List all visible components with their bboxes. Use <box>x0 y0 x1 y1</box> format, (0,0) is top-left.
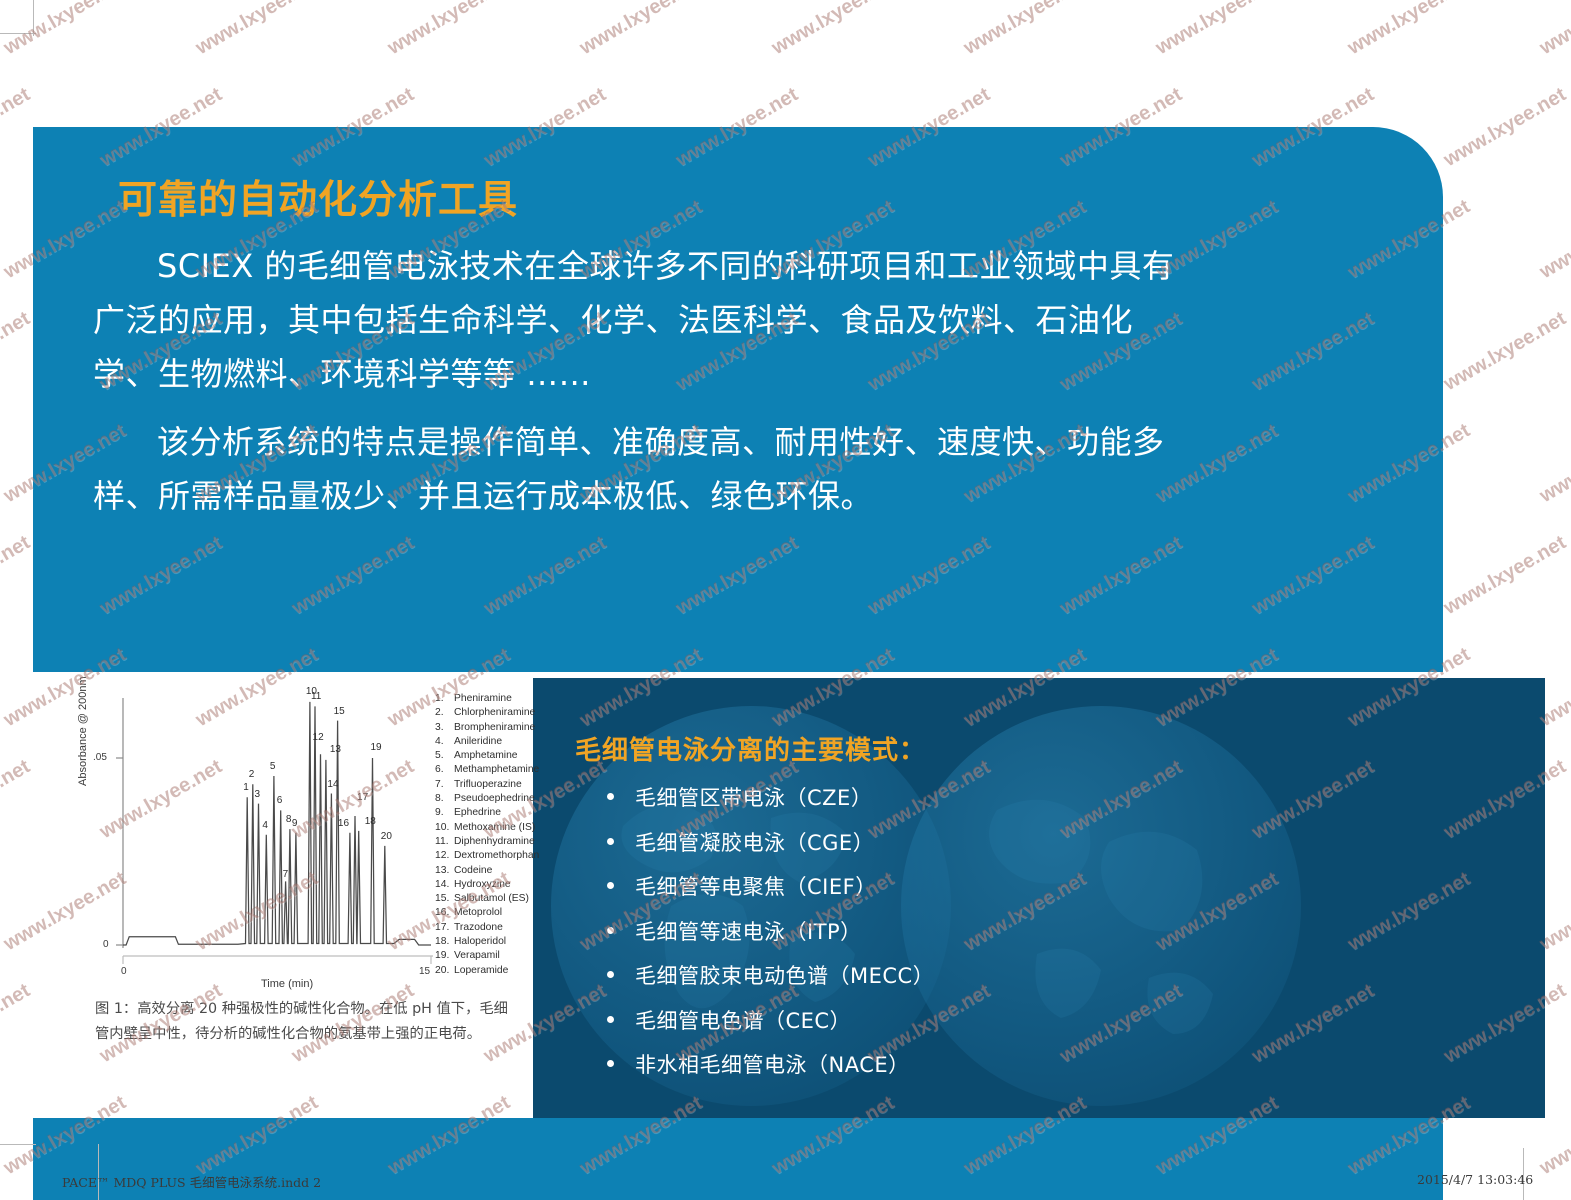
chart-peak-label: 20 <box>381 831 392 842</box>
chart-peak-label: 15 <box>334 706 345 717</box>
compound-name: Salbutamol (ES) <box>454 892 529 906</box>
modes-panel-title: 毛细管电泳分离的主要模式： <box>575 730 926 767</box>
compound-list-item: 11.Diphenhydramine <box>435 835 585 849</box>
chart-peak-label: 4 <box>262 820 268 831</box>
compound-index: 17. <box>435 921 454 935</box>
compound-list-item: 10.Methoxamine (IS) <box>435 821 585 835</box>
compound-list-item: 7.Trifluoperazine <box>435 778 585 792</box>
compound-name: Trazodone <box>454 921 503 935</box>
watermark-text: www.lxyee.net <box>1440 307 1570 395</box>
compound-index: 6. <box>435 763 454 777</box>
compound-legend-list: 1.Pheniramine2.Chlorpheniramine3.Bromphe… <box>435 692 585 978</box>
globe-graphic-right <box>901 706 1301 1106</box>
compound-name: Hydroxyzine <box>454 878 511 892</box>
hero-body: SCIEX 的毛细管电泳技术在全球许多不同的科研项目和工业领域中具有广泛的应用，… <box>93 239 1183 537</box>
compound-list-item: 19.Verapamil <box>435 949 585 963</box>
chart-peak-label: 17 <box>357 792 368 803</box>
watermark-text: www.lxyee.net <box>0 979 34 1067</box>
compound-list-item: 14.Hydroxyzine <box>435 878 585 892</box>
chart-peak-label: 1 <box>243 782 249 793</box>
compound-index: 3. <box>435 721 454 735</box>
chart-peak-label: 16 <box>338 818 349 829</box>
compound-name: Methoxamine (IS) <box>454 821 535 835</box>
compound-name: Trifluoperazine <box>454 778 522 792</box>
chart-peak-label: 5 <box>270 761 276 772</box>
compound-list-item: 1.Pheniramine <box>435 692 585 706</box>
hero-panel: 可靠的自动化分析工具 SCIEX 的毛细管电泳技术在全球许多不同的科研项目和工业… <box>33 127 1443 672</box>
mode-list-item: 非水相毛细管电泳（NACE） <box>599 1049 934 1079</box>
compound-name: Amphetamine <box>454 749 518 763</box>
figure-caption: 图 1：高效分离 20 种强极性的碱性化合物。在低 pH 值下，毛细管内壁呈中性… <box>95 997 515 1047</box>
footer-left-text: PACE™ MDQ PLUS 毛细管电泳系统.indd 2 <box>62 1172 321 1191</box>
watermark-text: www.lxyee.net <box>1536 419 1571 507</box>
compound-index: 8. <box>435 792 454 806</box>
chart-peak-label: 13 <box>330 744 341 755</box>
compound-name: Metoprolol <box>454 906 502 920</box>
compound-name: Loperamide <box>454 964 508 978</box>
watermark-text: www.lxyee.net <box>768 0 898 60</box>
compound-index: 18. <box>435 935 454 949</box>
compound-list-item: 16.Metoprolol <box>435 906 585 920</box>
compound-index: 12. <box>435 849 454 863</box>
watermark-text: www.lxyee.net <box>0 531 34 619</box>
chromatogram-chart: Absorbance @ 200nm 0 .05 0 15 Time (min)… <box>83 690 523 990</box>
mode-list-item: 毛细管区带电泳（CZE） <box>599 782 934 812</box>
compound-index: 19. <box>435 949 454 963</box>
mode-list-item: 毛细管等电聚焦（CIEF） <box>599 871 934 901</box>
compound-list-item: 6.Methamphetamine <box>435 763 585 777</box>
compound-list-item: 20.Loperamide <box>435 964 585 978</box>
chart-peak-label: 8 <box>286 814 292 825</box>
compound-index: 7. <box>435 778 454 792</box>
watermark-text: www.lxyee.net <box>1152 0 1282 60</box>
compound-list-item: 3.Brompheniramine <box>435 721 585 735</box>
compound-name: Ephedrine <box>454 806 501 820</box>
watermark-text: www.lxyee.net <box>960 0 1090 60</box>
compound-index: 2. <box>435 706 454 720</box>
chart-peak-label: 6 <box>277 795 283 806</box>
compound-index: 10. <box>435 821 454 835</box>
chart-peak-label: 19 <box>370 742 381 753</box>
crop-mark-left <box>33 0 34 36</box>
watermark-text: www.lxyee.net <box>1536 0 1571 60</box>
watermark-text: www.lxyee.net <box>384 0 514 60</box>
watermark-text: www.lxyee.net <box>0 307 34 395</box>
chart-peak-label: 3 <box>255 789 261 800</box>
watermark-text: www.lxyee.net <box>1440 83 1570 171</box>
mode-list-item: 毛细管等速电泳（ITP） <box>599 916 934 946</box>
compound-name: Verapamil <box>454 949 500 963</box>
compound-list-item: 8.Pseudoephedrine <box>435 792 585 806</box>
watermark-text: www.lxyee.net <box>192 0 322 60</box>
watermark-text: www.lxyee.net <box>1536 195 1571 283</box>
compound-index: 5. <box>435 749 454 763</box>
compound-list-item: 9.Ephedrine <box>435 806 585 820</box>
chart-peak-label: 11 <box>311 691 321 702</box>
watermark-text: www.lxyee.net <box>1344 0 1474 60</box>
watermark-text: www.lxyee.net <box>576 0 706 60</box>
page-title: 可靠的自动化分析工具 <box>118 169 518 225</box>
crop-mark-top <box>0 33 36 34</box>
compound-index: 1. <box>435 692 454 706</box>
compound-name: Diphenhydramine <box>454 835 535 849</box>
chart-peak-label: 14 <box>327 779 338 790</box>
compound-index: 15. <box>435 892 454 906</box>
chart-peak-label: 2 <box>249 769 255 780</box>
compound-name: Dextromethorphan <box>454 849 539 863</box>
compound-index: 4. <box>435 735 454 749</box>
compound-list-item: 13.Codeine <box>435 864 585 878</box>
compound-index: 20. <box>435 964 454 978</box>
compound-list-item: 5.Amphetamine <box>435 749 585 763</box>
compound-index: 14. <box>435 878 454 892</box>
compound-name: Haloperidol <box>454 935 506 949</box>
chart-peak-label: 9 <box>292 818 298 829</box>
footer-right-text: 2015/4/7 13:03:46 <box>1417 1172 1533 1187</box>
compound-name: Codeine <box>454 864 492 878</box>
crop-mark-bottom <box>0 1144 36 1145</box>
compound-list-item: 2.Chlorpheniramine <box>435 706 585 720</box>
compound-name: Anileridine <box>454 735 502 749</box>
compound-index: 11. <box>435 835 454 849</box>
compound-name: Pseudoephedrine <box>454 792 535 806</box>
modes-panel: 毛细管电泳分离的主要模式： 毛细管区带电泳（CZE）毛细管凝胶电泳（CGE）毛细… <box>533 678 1545 1118</box>
watermark-text: www.lxyee.net <box>0 0 130 60</box>
mode-list-item: 毛细管胶束电动色谱（MECC） <box>599 960 934 990</box>
continents-icon <box>901 706 1301 1106</box>
compound-list-item: 17.Trazodone <box>435 921 585 935</box>
compound-name: Chlorpheniramine <box>454 706 535 720</box>
watermark-text: www.lxyee.net <box>1440 531 1570 619</box>
compound-list-item: 18.Haloperidol <box>435 935 585 949</box>
compound-name: Methamphetamine <box>454 763 539 777</box>
hero-paragraph-1: SCIEX 的毛细管电泳技术在全球许多不同的科研项目和工业领域中具有广泛的应用，… <box>93 239 1183 401</box>
compound-index: 13. <box>435 864 454 878</box>
watermark-text: www.lxyee.net <box>0 83 34 171</box>
compound-name: Brompheniramine <box>454 721 535 735</box>
compound-index: 16. <box>435 906 454 920</box>
compound-list-item: 15.Salbutamol (ES) <box>435 892 585 906</box>
watermark-text: www.lxyee.net <box>0 755 34 843</box>
compound-index: 9. <box>435 806 454 820</box>
figure-card: Absorbance @ 200nm 0 .05 0 15 Time (min)… <box>33 672 533 1118</box>
chart-peak-label: 7 <box>283 869 289 880</box>
compound-name: Pheniramine <box>454 692 512 706</box>
chart-peak-label: 18 <box>365 816 376 827</box>
modes-list: 毛细管区带电泳（CZE）毛细管凝胶电泳（CGE）毛细管等电聚焦（CIEF）毛细管… <box>599 782 934 1094</box>
hero-paragraph-2: 该分析系统的特点是操作简单、准确度高、耐用性好、速度快、功能多样、所需样品量极少… <box>93 415 1183 523</box>
compound-list-item: 12.Dextromethorphan <box>435 849 585 863</box>
chart-peak-label: 12 <box>313 732 324 743</box>
compound-list-item: 4.Anileridine <box>435 735 585 749</box>
mode-list-item: 毛细管电色谱（CEC） <box>599 1005 934 1035</box>
mode-list-item: 毛细管凝胶电泳（CGE） <box>599 827 934 857</box>
